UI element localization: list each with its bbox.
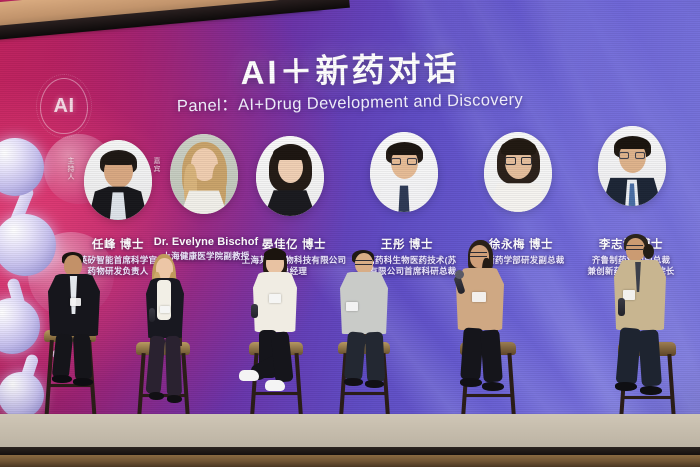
- panelist-5-seated: [434, 242, 526, 428]
- role-label-moderator: 主持人: [66, 158, 76, 182]
- portrait-speaker-3: [252, 136, 328, 216]
- panelist-2-seated: [124, 256, 210, 428]
- portrait-speaker-5: [480, 132, 556, 212]
- panelist-1-seated: [34, 252, 120, 422]
- panelist-3-seated: [225, 248, 315, 426]
- portrait-speaker-6: [594, 126, 670, 206]
- portrait-speaker-2: [166, 134, 242, 214]
- conference-panel-photo: AI AI＋新药对话 Panel：AI+Drug Development and…: [0, 0, 700, 467]
- panelist-4-seated: [330, 250, 416, 426]
- portrait-speaker-1: [80, 140, 156, 220]
- panelist-6-seated: [588, 234, 684, 430]
- stage-base-trim: [0, 455, 700, 467]
- speaker-portrait-row: 主持人 嘉宾: [0, 126, 700, 238]
- portrait-speaker-4: [366, 132, 442, 212]
